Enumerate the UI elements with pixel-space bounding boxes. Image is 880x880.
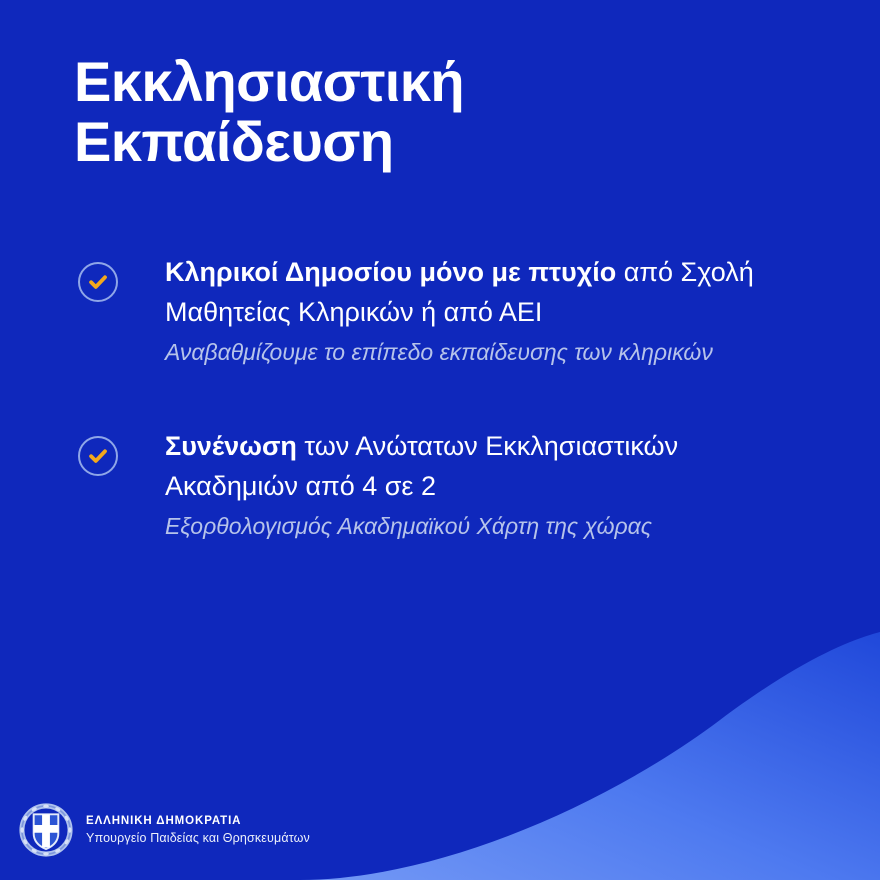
list-item-emphasis: Κληρικοί Δημοσίου μόνο με πτυχίο [165, 257, 616, 287]
list-item: Συνένωση των Ανώτατων Εκκλησιαστικών Ακα… [78, 426, 808, 544]
list-item: Κληρικοί Δημοσίου μόνο με πτυχίο από Σχο… [78, 252, 808, 370]
list-item-main-text: Κληρικοί Δημοσίου μόνο με πτυχίο από Σχο… [165, 252, 808, 332]
list-item-sub-text: Εξορθολογισμός Ακαδημαϊκού Χάρτη της χώρ… [165, 506, 808, 544]
page-title-line-2: Εκπαίδευση [74, 112, 714, 172]
poster-canvas: Εκκλησιαστική Εκπαίδευση Κληρικοί Δημοσί… [0, 0, 880, 880]
footer-text-block: ΕΛΛΗΝΙΚΗ ΔΗΜΟΚΡΑΤΙΑ Υπουργείο Παιδείας κ… [86, 816, 310, 845]
bullet-list: Κληρικοί Δημοσίου μόνο με πτυχίο από Σχο… [78, 252, 808, 544]
list-item-main-text: Συνένωση των Ανώτατων Εκκλησιαστικών Ακα… [165, 426, 808, 506]
footer-republic-label: ΕΛΛΗΝΙΚΗ ΔΗΜΟΚΡΑΤΙΑ [86, 816, 310, 828]
page-title-line-1: Εκκλησιαστική [74, 52, 714, 112]
page-title: Εκκλησιαστική Εκπαίδευση [74, 52, 714, 172]
check-circle-icon [78, 262, 118, 302]
footer-ministry-label: Υπουργείο Παιδείας και Θρησκευμάτων [86, 832, 310, 845]
list-item-sub-text: Αναβαθμίζουμε το επίπεδο εκπαίδευσης των… [165, 332, 808, 370]
check-circle-icon [78, 436, 118, 476]
footer-branding: ΕΛΛΗΝΙΚΗ ΔΗΜΟΚΡΑΤΙΑ Υπουργείο Παιδείας κ… [18, 802, 310, 858]
list-item-emphasis: Συνένωση [165, 431, 297, 461]
greek-coat-of-arms-icon [18, 802, 74, 858]
